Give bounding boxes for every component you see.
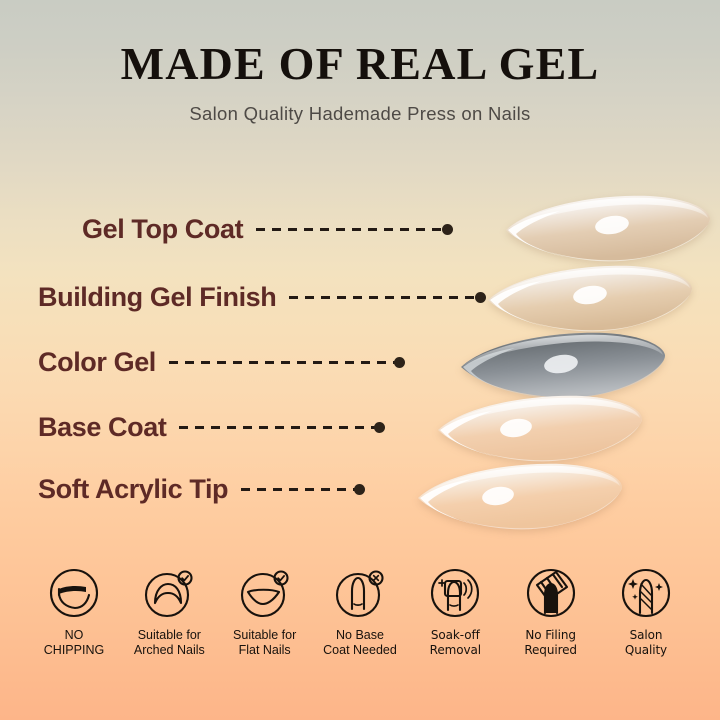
feature-item: Suitable for Flat Nails [221,565,309,659]
feature-badges: NO CHIPPING Suitable for Arched Nails [0,565,720,659]
flat-nail-icon [237,565,293,621]
layer-label: Building Gel Finish [38,282,276,313]
feature-item: Salon Quality [602,565,690,659]
page-subtitle: Salon Quality Hademade Press on Nails [0,88,720,125]
leader-line [169,361,401,364]
feature-caption: Suitable for Flat Nails [233,628,296,659]
leader-line [241,488,361,491]
feature-caption-line1: Suitable for [233,628,296,642]
feature-caption-line1: NO [65,628,84,642]
layer-row: Base Coat [0,396,720,458]
leader-line [256,228,449,231]
feature-item: NO CHIPPING [30,565,118,659]
feature-caption-line2: Arched Nails [134,643,205,657]
soak-off-removal-icon [427,565,483,621]
leader-dot [442,224,453,235]
feature-item: No Base Coat Needed [316,565,404,659]
base-coat-layer [432,394,644,468]
feature-caption: No Base Coat Needed [323,628,397,659]
layer-callout: Color Gel [38,331,401,393]
layer-label: Gel Top Coat [82,214,243,245]
page-title: MADE OF REAL GEL [0,0,720,88]
feature-caption-line1: No Base [336,628,384,642]
layer-label: Base Coat [38,412,166,443]
feature-caption-line2: Removal [430,643,481,657]
feature-caption: No Filing Required [524,628,577,657]
layer-label: Color Gel [38,347,156,378]
arched-nail-icon [141,565,197,621]
leader-dot [354,484,365,495]
layer-callout: Soft Acrylic Tip [38,458,361,520]
no-base-coat-icon [332,565,388,621]
feature-caption-line2: Coat Needed [323,643,397,657]
layer-diagram: Gel Top Coat [0,176,720,516]
feature-caption: Salon Quality [625,628,667,657]
salon-quality-icon [618,565,674,621]
feature-item: Suitable for Arched Nails [125,565,213,659]
layer-callout: Building Gel Finish [38,266,482,328]
leader-dot [394,357,405,368]
feature-caption-line1: Suitable for [138,628,201,642]
feature-item: No Filing Required [507,565,595,659]
soft-acrylic-tip-layer [412,462,624,536]
feature-caption-line2: Flat Nails [239,643,291,657]
building-gel-finish-layer [482,264,694,338]
layer-row: Gel Top Coat [0,198,720,260]
leader-line [289,296,482,299]
feature-caption-line2: CHIPPING [44,643,104,657]
no-filing-icon [523,565,579,621]
product-infographic: MADE OF REAL GEL Salon Quality Hademade … [0,0,720,720]
feature-caption-line1: No Filing [525,628,576,642]
header: MADE OF REAL GEL Salon Quality Hademade … [0,0,720,125]
feature-caption-line1: Soak-off [431,628,480,642]
feature-caption: NO CHIPPING [44,628,104,659]
leader-dot [374,422,385,433]
no-chipping-icon [46,565,102,621]
feature-caption: Suitable for Arched Nails [134,628,205,659]
layer-callout: Gel Top Coat [82,198,449,260]
feature-caption-line2: Quality [625,643,667,657]
gel-top-coat-layer [500,194,712,268]
feature-item: Soak-off Removal [411,565,499,659]
layer-row: Building Gel Finish [0,266,720,328]
layer-callout: Base Coat [38,396,381,458]
layer-label: Soft Acrylic Tip [38,474,228,505]
layer-row: Color Gel [0,331,720,393]
feature-caption: Soak-off Removal [430,628,481,657]
feature-caption-line1: Salon [630,628,663,642]
layer-row: Soft Acrylic Tip [0,458,720,520]
feature-caption-line2: Required [524,643,577,657]
leader-line [179,426,381,429]
